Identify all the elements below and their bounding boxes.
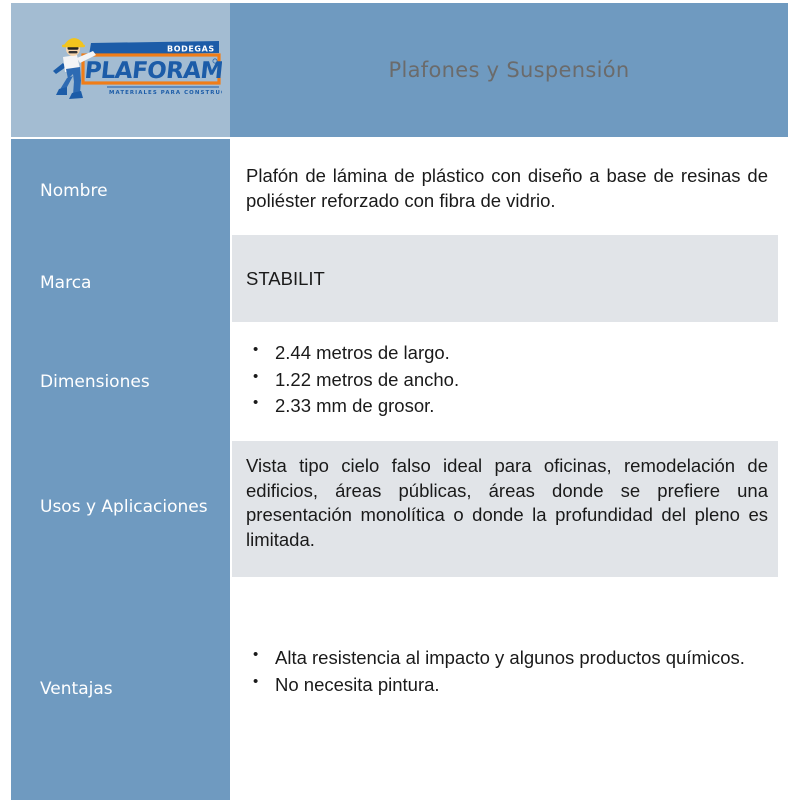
table-row: Plafón de lámina de plástico con diseño … <box>232 148 778 234</box>
marca-value: STABILIT <box>246 267 768 292</box>
list-item: 2.33 mm de grosor. <box>246 394 768 419</box>
table-row: Vista tipo cielo falso ideal para oficin… <box>232 441 778 577</box>
product-spec-slide: BODEGAS PLAFORAMA MATERIALES PARA CONSTR… <box>0 0 800 800</box>
row-label-dimensiones: Dimensiones <box>40 372 150 392</box>
table-row: STABILIT <box>232 235 778 322</box>
row-label-usos-y-aplicaciones: Usos y Aplicaciones <box>40 497 208 517</box>
list-item: No necesita pintura. <box>246 673 768 698</box>
plaforama-logo: BODEGAS PLAFORAMA MATERIALES PARA CONSTR… <box>47 29 222 107</box>
svg-text:BODEGAS: BODEGAS <box>167 45 215 54</box>
table-row: 2.44 metros de largo. 1.22 metros de anc… <box>232 323 778 440</box>
dimensiones-list: 2.44 metros de largo. 1.22 metros de anc… <box>246 341 768 419</box>
list-item: 1.22 metros de ancho. <box>246 368 768 393</box>
ventajas-list: Alta resistencia al impacto y algunos pr… <box>246 646 768 697</box>
header-title-cell: Plafones y Suspensión <box>230 3 788 137</box>
logo-cell: BODEGAS PLAFORAMA MATERIALES PARA CONSTR… <box>11 3 230 137</box>
table-row: Alta resistencia al impacto y algunos pr… <box>232 578 778 800</box>
svg-text:PLAFORAMA: PLAFORAMA <box>83 58 222 84</box>
row-label-marca: Marca <box>40 273 91 293</box>
svg-text:MATERIALES PARA CONSTRUCCIÓN: MATERIALES PARA CONSTRUCCIÓN <box>109 89 222 96</box>
page-title: Plafones y Suspensión <box>389 58 630 82</box>
row-label-ventajas: Ventajas <box>40 679 113 699</box>
usos-description: Vista tipo cielo falso ideal para oficin… <box>246 454 768 552</box>
nombre-description: Plafón de lámina de plástico con diseño … <box>246 164 768 213</box>
row-label-nombre: Nombre <box>40 181 108 201</box>
list-item: 2.44 metros de largo. <box>246 341 768 366</box>
label-column: Nombre Marca Dimensiones Usos y Aplicaci… <box>11 139 230 800</box>
header: BODEGAS PLAFORAMA MATERIALES PARA CONSTR… <box>11 3 788 137</box>
list-item: Alta resistencia al impacto y algunos pr… <box>246 646 768 671</box>
